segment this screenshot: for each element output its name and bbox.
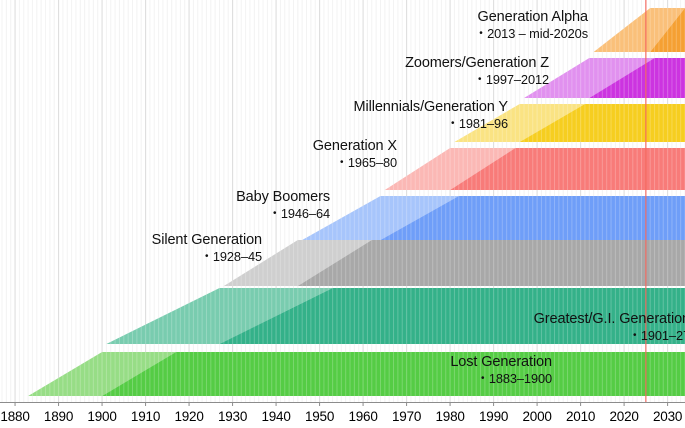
generation-band bbox=[524, 58, 685, 98]
x-axis-tick-label: 2020 bbox=[609, 409, 638, 424]
x-axis-tick-label: 1980 bbox=[435, 409, 464, 424]
x-axis-tick-label: 1890 bbox=[44, 409, 73, 424]
x-axis-tick-label: 1900 bbox=[87, 409, 116, 424]
x-axis-tick-label: 2030 bbox=[653, 409, 682, 424]
generation-bands bbox=[28, 8, 685, 396]
x-axis-tick-label: 1910 bbox=[131, 409, 160, 424]
generation-band bbox=[385, 148, 685, 190]
x-axis-tick-label: 1930 bbox=[218, 409, 247, 424]
generations-timeline-chart: Generation Alpha• 2013 – mid-2020sZoomer… bbox=[0, 0, 685, 428]
x-axis-tick-label: 1940 bbox=[261, 409, 290, 424]
x-axis-tick-label: 1970 bbox=[392, 409, 421, 424]
x-axis-tick-label: 1960 bbox=[348, 409, 377, 424]
x-axis-tick-label: 1880 bbox=[0, 409, 29, 424]
x-axis-tick-label: 1950 bbox=[305, 409, 334, 424]
timeline-plot-area bbox=[0, 0, 685, 428]
generation-band bbox=[594, 8, 685, 52]
x-axis-tick-label: 1990 bbox=[479, 409, 508, 424]
x-axis-tick-label: 1920 bbox=[174, 409, 203, 424]
x-axis-tick-label: 2010 bbox=[566, 409, 595, 424]
generation-band bbox=[28, 352, 685, 396]
x-axis-tick-label: 2000 bbox=[522, 409, 551, 424]
